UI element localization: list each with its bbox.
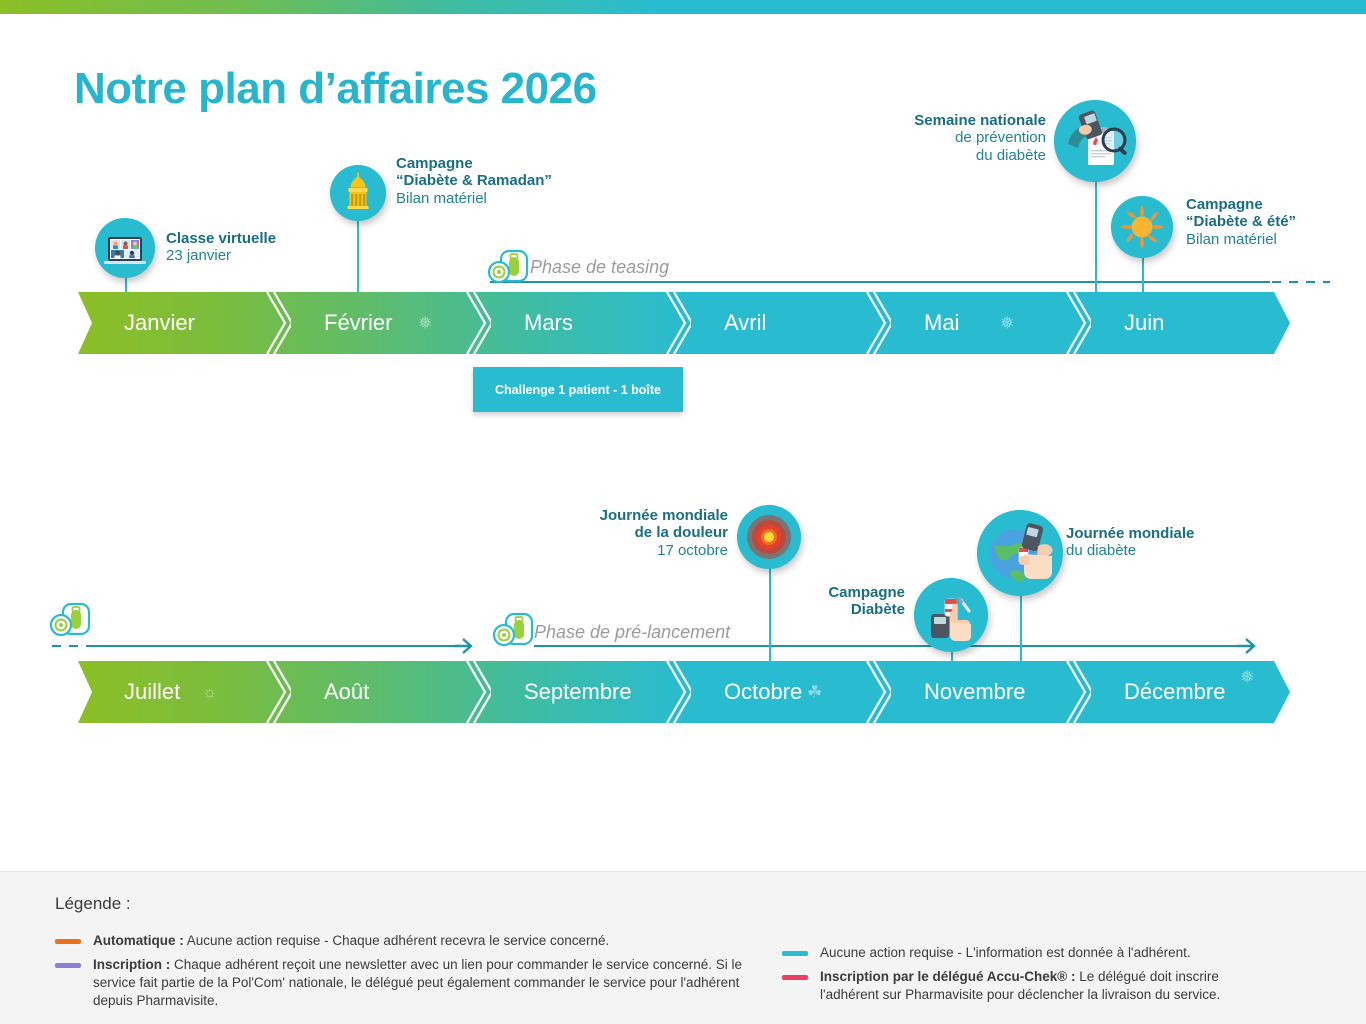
marker-label-classe-virtuelle: Classe virtuelle 23 janvier — [166, 230, 276, 265]
marker-subtitle: “Diabète & Ramadan” — [396, 172, 552, 189]
snowflake-icon: ❅ — [418, 315, 432, 332]
marker-title: Semaine nationale — [868, 112, 1046, 129]
marker-stem-journee-diabete — [1020, 596, 1022, 665]
teasing-phase-line — [490, 281, 1270, 283]
month-label: Juin — [1124, 310, 1164, 336]
timeline-band-second-half: Juillet ☼ Août Septembre Octobre — [78, 661, 1290, 723]
marker-title: Campagne — [1186, 196, 1296, 213]
marker-extra: du diabète — [868, 147, 1046, 164]
glucometer-lancet-icon — [487, 248, 529, 284]
page-title: Notre plan d’affaires 2026 — [74, 64, 597, 114]
month-cell-aout[interactable]: Août — [290, 661, 490, 723]
month-label: Décembre — [1124, 679, 1225, 705]
marker-label-diabete-ete: Campagne “Diabète & été” Bilan matériel — [1186, 196, 1296, 248]
legend-item-text: Aucune action requise - L'information es… — [820, 944, 1191, 962]
marker-label-campagne-diabete: Campagne Diabète — [780, 584, 905, 619]
legend-swatch-purple — [55, 963, 81, 968]
month-label: Août — [324, 679, 369, 705]
chevron-divider-icon — [1065, 661, 1091, 723]
marker-title: Campagne — [780, 584, 905, 601]
marker-label-semaine-nationale: Semaine nationale de prévention du diabè… — [868, 112, 1046, 164]
month-cell-avril[interactable]: Avril — [690, 292, 890, 354]
month-cell-juin[interactable]: Juin — [1090, 292, 1290, 354]
month-label: Novembre — [924, 679, 1025, 705]
chevron-divider-icon — [265, 292, 291, 354]
prelaunch-arrow-icon — [452, 634, 476, 663]
sun-small-icon: ☼ — [202, 684, 218, 701]
glucometer-lancet-icon-mid — [492, 611, 534, 647]
marker-subtitle: “Diabète & été” — [1186, 213, 1296, 230]
chevron-divider-icon — [465, 292, 491, 354]
legend-swatch-orange — [55, 939, 81, 944]
marker-label-journee-diabete: Journée mondiale du diabète — [1066, 525, 1194, 560]
chevron-divider-icon — [1065, 292, 1091, 354]
month-label: Mai — [924, 310, 959, 336]
glucometer-report-icon — [1054, 100, 1136, 182]
challenge-tag-label: Challenge 1 patient - 1 boîte — [495, 383, 661, 397]
prelaunch-phase-label: Phase de pré-lancement — [534, 622, 730, 643]
marker-subtitle: de la douleur — [520, 524, 728, 541]
legend-item-body: Aucune action requise - Chaque adhérent … — [184, 933, 610, 948]
month-cell-novembre[interactable]: Novembre — [890, 661, 1090, 723]
legend-item-inscription-delegue: Inscription par le délégué Accu-Chek® : … — [782, 968, 1257, 1004]
legend-swatch-pink — [782, 975, 808, 980]
finger-prick-icon — [914, 578, 988, 652]
month-label: Mars — [524, 310, 573, 336]
prelaunch-arrow-icon-right — [1235, 634, 1259, 663]
snowflake-icon: ❅ — [1000, 315, 1014, 332]
prelaunch-phase-line-right — [534, 645, 1239, 647]
month-label: Février — [324, 310, 392, 336]
legend-item-bold: Inscription : — [93, 957, 170, 972]
marker-title: Campagne — [396, 155, 552, 172]
marker-subtitle: 23 janvier — [166, 247, 276, 264]
marker-subtitle: de prévention — [868, 129, 1046, 146]
chevron-divider-icon — [665, 292, 691, 354]
marker-stem-diabete-ete — [1142, 255, 1144, 297]
sun-icon — [1111, 196, 1173, 258]
virtual-classroom-icon — [95, 218, 155, 278]
marker-subtitle: Diabète — [780, 601, 905, 618]
pain-target-icon — [737, 505, 801, 569]
marker-title: Journée mondiale — [1066, 525, 1194, 542]
marker-extra: Bilan matériel — [1186, 231, 1296, 248]
marker-stem-journee-douleur — [769, 565, 771, 665]
chevron-divider-icon — [665, 661, 691, 723]
month-cell-juillet[interactable]: Juillet ☼ — [78, 661, 290, 723]
legend-item-inscription: Inscription : Chaque adhérent reçoit une… — [55, 956, 745, 1011]
teasing-phase-label: Phase de teasing — [530, 257, 669, 278]
month-label: Septembre — [524, 679, 632, 705]
marker-extra: 17 octobre — [520, 542, 728, 559]
marker-label-journee-douleur: Journée mondiale de la douleur 17 octobr… — [520, 507, 728, 559]
legend-swatch-teal — [782, 951, 808, 956]
legend-item-body: Aucune action requise - L'information es… — [820, 945, 1191, 960]
legend-item-body: Chaque adhérent reçoit une newsletter av… — [93, 957, 742, 1008]
mosque-ramadan-icon — [330, 165, 386, 221]
chevron-divider-icon — [865, 292, 891, 354]
marker-subtitle: du diabète — [1066, 542, 1194, 559]
legend-item-text: Inscription par le délégué Accu-Chek® : … — [820, 968, 1257, 1004]
month-cell-fevrier[interactable]: Février ❅ — [290, 292, 490, 354]
snowflake-icon: ❅ — [1240, 669, 1254, 686]
top-gradient-bar — [0, 0, 1366, 14]
marker-extra: Bilan matériel — [396, 190, 552, 207]
marker-label-ramadan: Campagne “Diabète & Ramadan” Bilan matér… — [396, 155, 552, 207]
month-list: Janvier Février ❅ Mars Avril — [78, 292, 1290, 354]
chevron-divider-icon — [265, 661, 291, 723]
legend-item-bold: Inscription par le délégué Accu-Chek® : — [820, 969, 1076, 984]
month-label: Octobre — [724, 679, 802, 705]
legend-item-bold: Automatique : — [93, 933, 184, 948]
legend-heading: Légende : — [55, 894, 131, 914]
infographic-page: Notre plan d’affaires 2026 Phase de teas… — [0, 0, 1366, 1024]
month-cell-mai[interactable]: Mai ❅ — [890, 292, 1090, 354]
month-cell-mars[interactable]: Mars — [490, 292, 690, 354]
month-cell-decembre[interactable]: Décembre ❅ — [1090, 661, 1290, 723]
legend-footer: Légende : Automatique : Aucune action re… — [0, 871, 1366, 1024]
prelaunch-phase-dashes-left — [52, 645, 88, 647]
month-label: Janvier — [124, 310, 195, 336]
glucometer-lancet-icon-left — [49, 601, 91, 637]
legend-item-aucune-action: Aucune action requise - L'information es… — [782, 944, 1252, 962]
marker-stem-semaine-nationale — [1095, 177, 1097, 297]
prelaunch-phase-line-left — [88, 645, 460, 647]
teasing-phase-dashes — [1272, 281, 1330, 283]
month-label: Juillet — [124, 679, 180, 705]
marker-title: Classe virtuelle — [166, 230, 276, 247]
globe-glucometer-icon — [977, 510, 1063, 596]
month-cell-janvier[interactable]: Janvier — [78, 292, 290, 354]
legend-item-text: Automatique : Aucune action requise - Ch… — [93, 932, 609, 950]
month-cell-septembre[interactable]: Septembre — [490, 661, 690, 723]
chevron-divider-icon — [865, 661, 891, 723]
timeline-band-first-half: Janvier Février ❅ Mars Avril — [78, 292, 1290, 354]
challenge-tag[interactable]: Challenge 1 patient - 1 boîte — [473, 367, 683, 412]
leaf-icon: ☘ — [807, 684, 822, 701]
month-list: Juillet ☼ Août Septembre Octobre — [78, 661, 1290, 723]
month-label: Avril — [724, 310, 766, 336]
marker-title: Journée mondiale — [520, 507, 728, 524]
chevron-divider-icon — [465, 661, 491, 723]
legend-item-automatique: Automatique : Aucune action requise - Ch… — [55, 932, 755, 950]
month-cell-octobre[interactable]: Octobre ☘ — [690, 661, 890, 723]
legend-item-text: Inscription : Chaque adhérent reçoit une… — [93, 956, 745, 1011]
marker-stem-ramadan — [357, 215, 359, 297]
